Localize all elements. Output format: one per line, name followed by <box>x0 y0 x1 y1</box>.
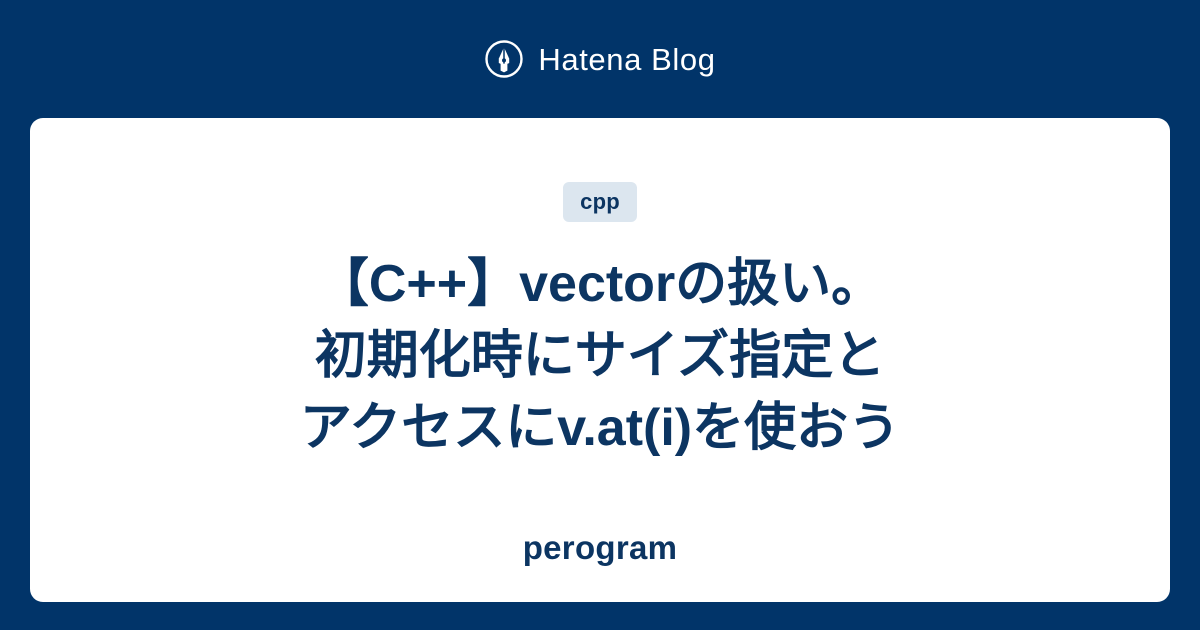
ogp-canvas: Hatena Blog cpp 【C++】vectorの扱い。 初期化時にサイズ… <box>0 0 1200 630</box>
entry-title-line-3: アクセスにv.at(i)を使おう <box>250 392 950 464</box>
entry-title-line-1: 【C++】vectorの扱い。 <box>250 248 950 320</box>
entry-title: 【C++】vectorの扱い。 初期化時にサイズ指定と アクセスにv.at(i)… <box>250 248 950 464</box>
category-tag-cpp[interactable]: cpp <box>563 182 637 222</box>
entry-card-content: cpp 【C++】vectorの扱い。 初期化時にサイズ指定と アクセスにv.a… <box>30 118 1170 564</box>
brand-header: Hatena Blog <box>0 0 1200 118</box>
entry-card: cpp 【C++】vectorの扱い。 初期化時にサイズ指定と アクセスにv.a… <box>30 118 1170 602</box>
entry-title-line-2: 初期化時にサイズ指定と <box>250 320 950 392</box>
blog-title: perogram <box>523 531 678 564</box>
brand-name: Hatena Blog <box>538 44 715 75</box>
category-tag-row: cpp <box>563 182 637 222</box>
pen-nib-in-circle-icon <box>484 39 524 79</box>
